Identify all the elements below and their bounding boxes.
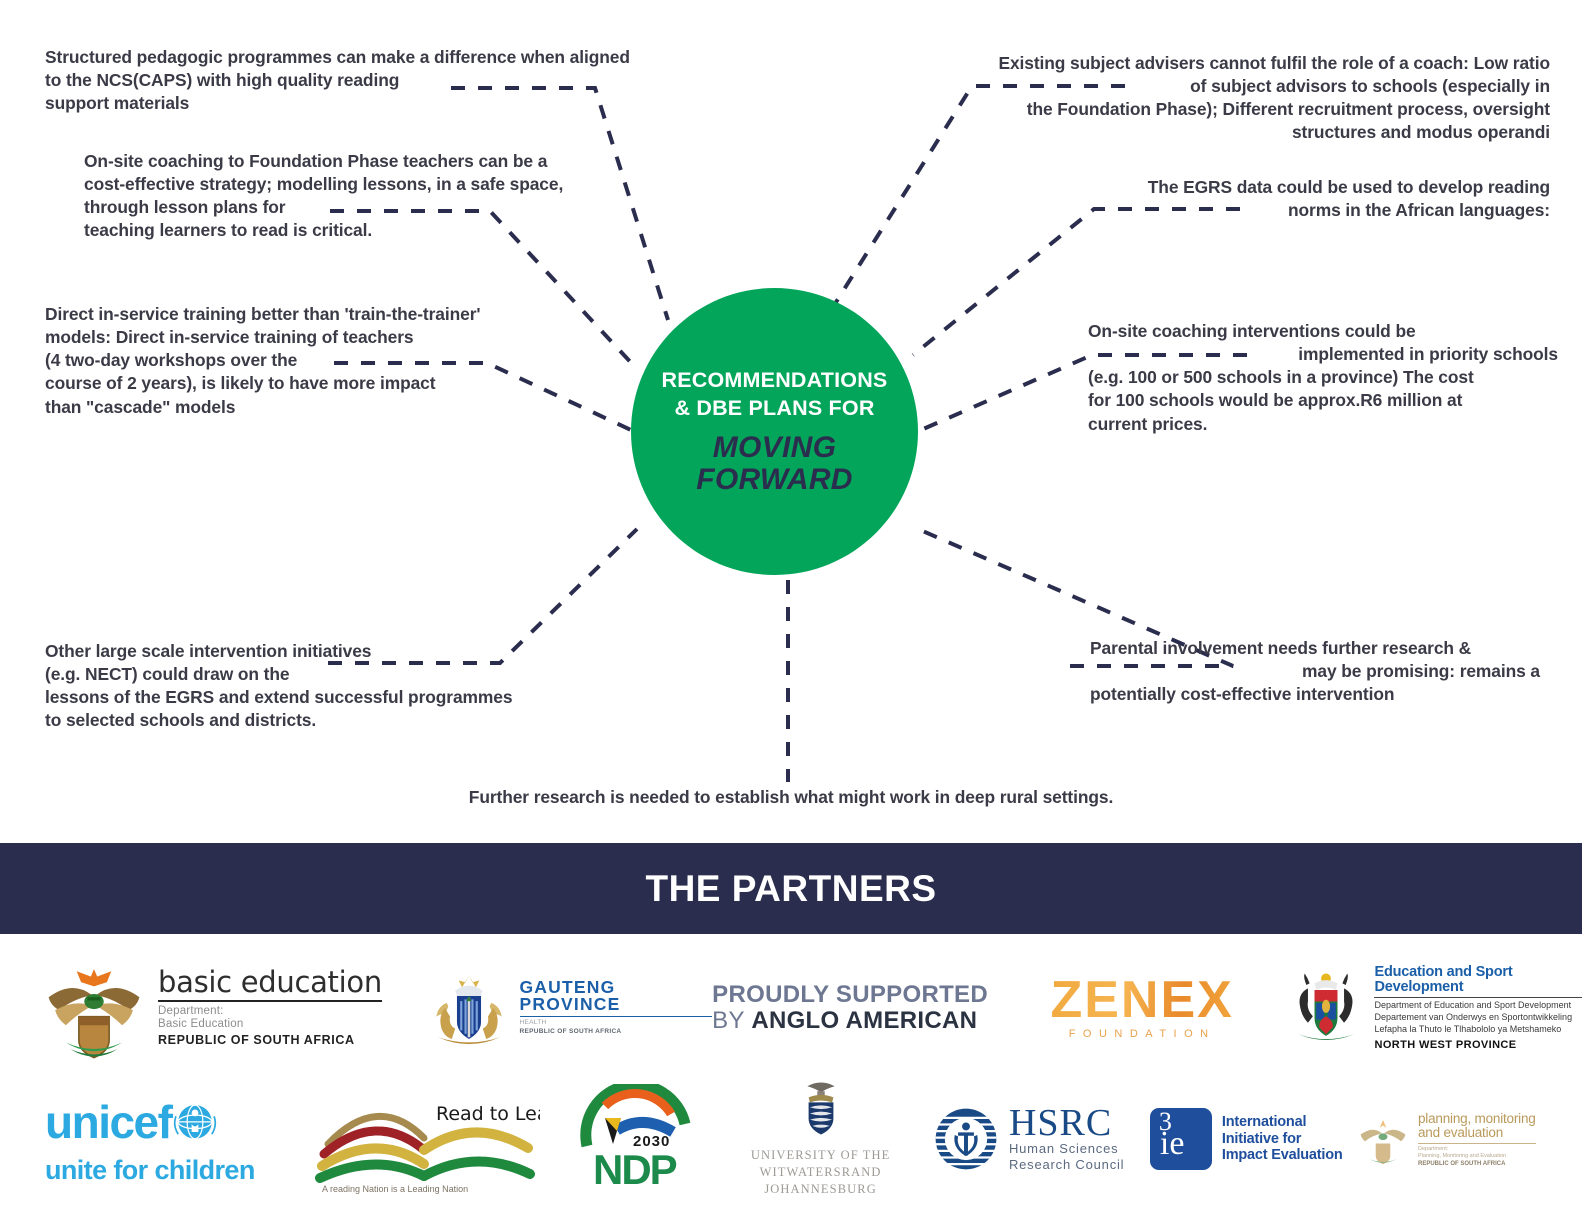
- logo-north-west-province: Education and Sport Development Departme…: [1285, 965, 1582, 1051]
- node-line: norms in the African languages:: [900, 199, 1550, 222]
- zenex-sub: FOUNDATION: [1069, 1028, 1216, 1040]
- dpme-line-3: REPUBLIC OF SOUTH AFRICA: [1418, 1161, 1536, 1167]
- zenex-wordmark: ZENEX: [1050, 971, 1233, 1029]
- partners-title: THE PARTNERS: [645, 868, 936, 910]
- node-line: to selected schools and districts.: [45, 709, 585, 732]
- dpme-line-2: Planning, Monitoring and Evaluation: [1418, 1153, 1536, 1160]
- node-line: potentially cost-effective intervention: [1090, 683, 1540, 706]
- read-to-lead-tagline: A reading Nation is a Leading Nation: [322, 1184, 468, 1194]
- basic-education-line-3: REPUBLIC OF SOUTH AFRICA: [158, 1032, 382, 1048]
- logo-unicef: unicef: [45, 1095, 310, 1184]
- hub-line-3: MOVING: [696, 432, 853, 464]
- basic-education-line-1: Department:: [158, 1005, 382, 1019]
- hsrc-name: HSRC: [1009, 1105, 1124, 1141]
- node-line: (e.g. 100 or 500 schools in a province) …: [1088, 366, 1558, 389]
- 3ie-line-3: Impact Evaluation: [1222, 1147, 1343, 1164]
- node-line: the Foundation Phase); Different recruit…: [850, 98, 1550, 121]
- node-line: (e.g. NECT) could draw on the: [45, 663, 585, 686]
- node-line: to the NCS(CAPS) with high quality readi…: [45, 69, 725, 92]
- infographic-canvas: RECOMMENDATIONS & DBE PLANS FOR MOVING F…: [0, 0, 1582, 1214]
- partner-logos: basic education Department: Basic Educat…: [0, 940, 1582, 1214]
- basic-education-line-2: Basic Education: [158, 1018, 382, 1032]
- gauteng-line-2: REPUBLIC OF SOUTH AFRICA: [520, 1028, 622, 1035]
- gauteng-coat-of-arms-icon: [426, 965, 512, 1051]
- wits-line-3: JOHANNESBURG: [751, 1181, 891, 1198]
- node-line: for 100 schools would be approx.R6 milli…: [1088, 389, 1558, 412]
- logo-basic-education: basic education Department: Basic Educat…: [40, 954, 426, 1062]
- node-line: Direct in-service training better than '…: [45, 303, 565, 326]
- dpme-name-line-1: planning, monitoring: [1418, 1112, 1536, 1127]
- partner-logo-row-2: unicef: [0, 1074, 1582, 1204]
- dpme-line-1: Department:: [1418, 1146, 1536, 1153]
- node-line: The EGRS data could be used to develop r…: [900, 176, 1550, 199]
- dpme-coat-of-arms-icon: [1355, 1111, 1411, 1167]
- 3ie-line-2: Initiative for: [1222, 1131, 1343, 1148]
- node-line: On-site coaching interventions could be: [1088, 320, 1558, 343]
- partners-banner: THE PARTNERS: [0, 843, 1582, 934]
- center-hub: RECOMMENDATIONS & DBE PLANS FOR MOVING F…: [631, 288, 918, 575]
- gauteng-name: GAUTENG PROVINCE: [520, 979, 713, 1014]
- node-direct-in-service-training: Direct in-service training better than '…: [45, 303, 565, 419]
- partner-logo-row-1: basic education Department: Basic Educat…: [0, 948, 1582, 1068]
- hub-line-2: & DBE PLANS FOR: [662, 395, 888, 422]
- sa-coat-of-arms-icon: [40, 954, 148, 1062]
- node-line: through lesson plans for: [84, 196, 644, 219]
- north-west-line-3: Lefapha la Thuto le Tlhabololo ya Metsha…: [1374, 1024, 1582, 1036]
- logo-wits: UNIVERSITY OF THE WITWATERSRAND JOHANNES…: [721, 1080, 920, 1197]
- node-on-site-coaching-foundation: On-site coaching to Foundation Phase tea…: [84, 150, 644, 243]
- anglo-line-2-bold: ANGLO AMERICAN: [751, 1007, 977, 1034]
- node-egrs-reading-norms: The EGRS data could be used to develop r…: [900, 176, 1550, 222]
- node-line: (4 two-day workshops over the: [45, 349, 565, 372]
- node-line: Structured pedagogic programmes can make…: [45, 46, 725, 69]
- node-line: course of 2 years), is likely to have mo…: [45, 372, 565, 395]
- node-other-large-scale: Other large scale intervention initiativ…: [45, 640, 585, 733]
- north-west-line-1: Department of Education and Sport Develo…: [1374, 1000, 1582, 1012]
- 3ie-mark-icon: 3 ie: [1150, 1108, 1212, 1170]
- node-line: structures and modus operandi: [850, 121, 1550, 144]
- divider: [1418, 1143, 1536, 1144]
- node-line: lessons of the EGRS and extend successfu…: [45, 686, 585, 709]
- node-subject-advisers: Existing subject advisers cannot fulfil …: [850, 52, 1550, 145]
- node-line: than "cascade" models: [45, 396, 565, 419]
- node-structured-pedagogic: Structured pedagogic programmes can make…: [45, 46, 725, 115]
- node-deep-rural-research: Further research is needed to establish …: [0, 786, 1582, 809]
- node-line: Existing subject advisers cannot fulfil …: [850, 52, 1550, 75]
- node-parental-involvement: Parental involvement needs further resea…: [1090, 637, 1540, 706]
- unicef-tagline: unite for children: [45, 1157, 255, 1184]
- ndp-icon: NDP 2030: [571, 1084, 701, 1194]
- node-line: models: Direct in-service training of te…: [45, 326, 565, 349]
- anglo-line-1: PROUDLY SUPPORTED: [712, 982, 988, 1008]
- logo-zenex-foundation: ZENEX FOUNDATION: [999, 976, 1286, 1039]
- logo-3ie: 3 ie International Initiative for Impact…: [1137, 1108, 1355, 1170]
- node-line: Further research is needed to establish …: [0, 786, 1582, 809]
- anglo-line-2-light: BY: [712, 1007, 751, 1034]
- wits-line-2: WITWATERSRAND: [751, 1164, 891, 1181]
- node-line: current prices.: [1088, 413, 1558, 436]
- 3ie-line-1: International: [1222, 1114, 1343, 1131]
- node-on-site-coaching-priority: On-site coaching interventions could be …: [1088, 320, 1558, 436]
- ndp-name: NDP: [593, 1146, 677, 1193]
- basic-education-name: basic education: [158, 968, 382, 997]
- divider: [520, 1016, 713, 1018]
- logo-read-to-lead: Read to Lead A reading Nation is a Leadi…: [310, 1084, 551, 1194]
- logo-gauteng-province: GAUTENG PROVINCE HEALTH REPUBLIC OF SOUT…: [426, 965, 713, 1051]
- hsrc-line-2: Research Council: [1009, 1157, 1124, 1173]
- node-line: Parental involvement needs further resea…: [1090, 637, 1540, 660]
- unicef-globe-icon: [167, 1095, 223, 1151]
- logo-dpme: planning, monitoring and evaluation Depa…: [1355, 1111, 1582, 1167]
- read-to-lead-name: Read to Lead: [436, 1103, 540, 1125]
- wits-crest-icon: [790, 1080, 852, 1142]
- hub-line-4: FORWARD: [696, 464, 853, 496]
- north-west-line-4: NORTH WEST PROVINCE: [1374, 1039, 1582, 1051]
- unicef-name: unicef: [45, 1101, 171, 1143]
- gauteng-line-1: HEALTH: [520, 1019, 713, 1028]
- divider: [1374, 997, 1582, 998]
- north-west-coat-of-arms-icon: [1285, 967, 1367, 1049]
- logo-ndp: NDP 2030: [551, 1084, 721, 1194]
- dpme-name-line-2: and evaluation: [1418, 1126, 1536, 1141]
- divider: [158, 1000, 382, 1002]
- node-line: On-site coaching to Foundation Phase tea…: [84, 150, 644, 173]
- ndp-year: 2030: [633, 1133, 670, 1150]
- read-to-lead-book-icon: Read to Lead A reading Nation is a Leadi…: [310, 1084, 540, 1194]
- wits-line-1: UNIVERSITY OF THE: [751, 1147, 891, 1164]
- hsrc-emblem-icon: [933, 1106, 999, 1172]
- node-line: teaching learners to read is critical.: [84, 219, 644, 242]
- node-line: may be promising: remains a: [1090, 660, 1540, 683]
- logo-hsrc: HSRC Human Sciences Research Council: [920, 1105, 1138, 1173]
- north-west-name: Education and Sport Development: [1374, 965, 1582, 994]
- node-line: of subject advisors to schools (especial…: [850, 75, 1550, 98]
- logo-anglo-american: PROUDLY SUPPORTED BY ANGLO AMERICAN: [712, 982, 999, 1034]
- node-line: Other large scale intervention initiativ…: [45, 640, 585, 663]
- node-line: cost-effective strategy; modelling lesso…: [84, 173, 644, 196]
- hsrc-line-1: Human Sciences: [1009, 1141, 1124, 1157]
- node-line: support materials: [45, 92, 725, 115]
- 3ie-mark-bottom: ie: [1160, 1130, 1185, 1157]
- hub-line-1: RECOMMENDATIONS: [662, 367, 888, 394]
- node-line: implemented in priority schools: [1088, 343, 1558, 366]
- zenex-name: ZENEX: [1050, 976, 1233, 1025]
- north-west-line-2: Departement van Onderwys en Sportontwikk…: [1374, 1012, 1582, 1024]
